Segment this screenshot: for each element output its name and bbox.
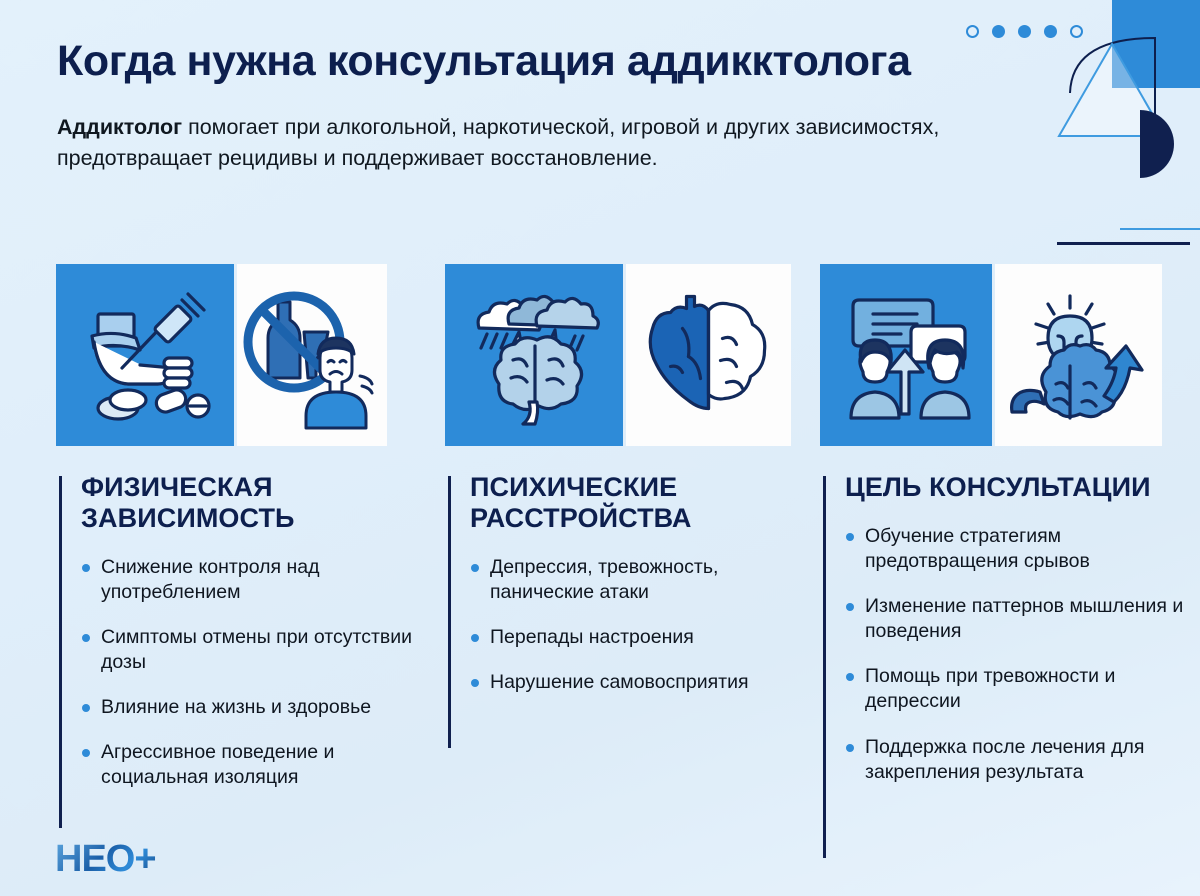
list-item: Снижение контроля над употреблением — [81, 555, 430, 605]
arm-syringe-pills-icon — [56, 264, 234, 446]
page-title: Когда нужна консультация аддикктолога — [57, 36, 977, 86]
list-item: Депрессия, тревожность, панические атаки — [470, 555, 791, 605]
category-title: ФИЗИЧЕСКАЯ ЗАВИСИМОСТЬ — [81, 472, 430, 534]
category-title: ЦЕЛЬ КОНСУЛЬТАЦИИ — [845, 472, 1194, 503]
brain-lightbulb-arrows-icon — [995, 264, 1162, 446]
image-strip — [820, 264, 1194, 446]
page-subtitle: Аддиктолог помогает при алкогольной, нар… — [57, 112, 977, 173]
brand-logo: НЕО+ — [55, 838, 156, 881]
decorative-dot-3 — [1018, 25, 1031, 38]
bullet-list: Депрессия, тревожность, панические атаки… — [470, 555, 791, 696]
two-people-speech-bubbles-icon — [820, 264, 992, 446]
list-item: Симптомы отмены при отсутствии дозы — [81, 625, 430, 675]
list-item: Влияние на жизнь и здоровье — [81, 695, 430, 720]
column-body: ПСИХИЧЕСКИЕ РАССТРОЙСТВА Депрессия, трев… — [445, 472, 791, 695]
column-mental-disorders: ПСИХИЧЕСКИЕ РАССТРОЙСТВА Депрессия, трев… — [445, 264, 791, 811]
decorative-line-dark — [1057, 242, 1190, 245]
column-divider — [59, 476, 62, 828]
category-columns: ФИЗИЧЕСКАЯ ЗАВИСИМОСТЬ Снижение контроля… — [0, 264, 1200, 811]
brain-storm-cloud-icon — [445, 264, 623, 446]
column-consultation-goal: ЦЕЛЬ КОНСУЛЬТАЦИИ Обучение стратегиям пр… — [820, 264, 1194, 811]
list-item: Поддержка после лечения для закрепления … — [845, 735, 1194, 785]
decorative-line-light — [1120, 228, 1200, 230]
image-strip — [445, 264, 791, 446]
category-title: ПСИХИЧЕСКИЕ РАССТРОЙСТВА — [470, 472, 791, 534]
image-strip — [56, 264, 430, 446]
column-divider — [823, 476, 826, 858]
decorative-dot-2 — [992, 25, 1005, 38]
list-item: Агрессивное поведение и социальная изоля… — [81, 740, 430, 790]
list-item: Перепады настроения — [470, 625, 791, 650]
column-body: ФИЗИЧЕСКАЯ ЗАВИСИМОСТЬ Снижение контроля… — [56, 472, 430, 791]
column-divider — [448, 476, 451, 748]
header: Когда нужна консультация аддикктолога Ад… — [57, 36, 977, 173]
bullet-list: Обучение стратегиям предотвращения срыво… — [845, 524, 1194, 785]
bullet-list: Снижение контроля над употреблением Симп… — [81, 555, 430, 791]
list-item: Обучение стратегиям предотвращения срыво… — [845, 524, 1194, 574]
list-item: Помощь при тревожности и депрессии — [845, 664, 1194, 714]
subtitle-lead-term: Аддиктолог — [57, 115, 182, 139]
list-item: Изменение паттернов мышления и поведения — [845, 594, 1194, 644]
list-item: Нарушение самовосприятия — [470, 670, 791, 695]
column-physical-dependence: ФИЗИЧЕСКАЯ ЗАВИСИМОСТЬ Снижение контроля… — [56, 264, 430, 811]
column-body: ЦЕЛЬ КОНСУЛЬТАЦИИ Обучение стратегиям пр… — [820, 472, 1194, 785]
subtitle-rest: помогает при алкогольной, наркотической,… — [57, 115, 939, 170]
no-alcohol-sad-person-icon — [237, 264, 387, 446]
heart-brain-icon — [626, 264, 791, 446]
